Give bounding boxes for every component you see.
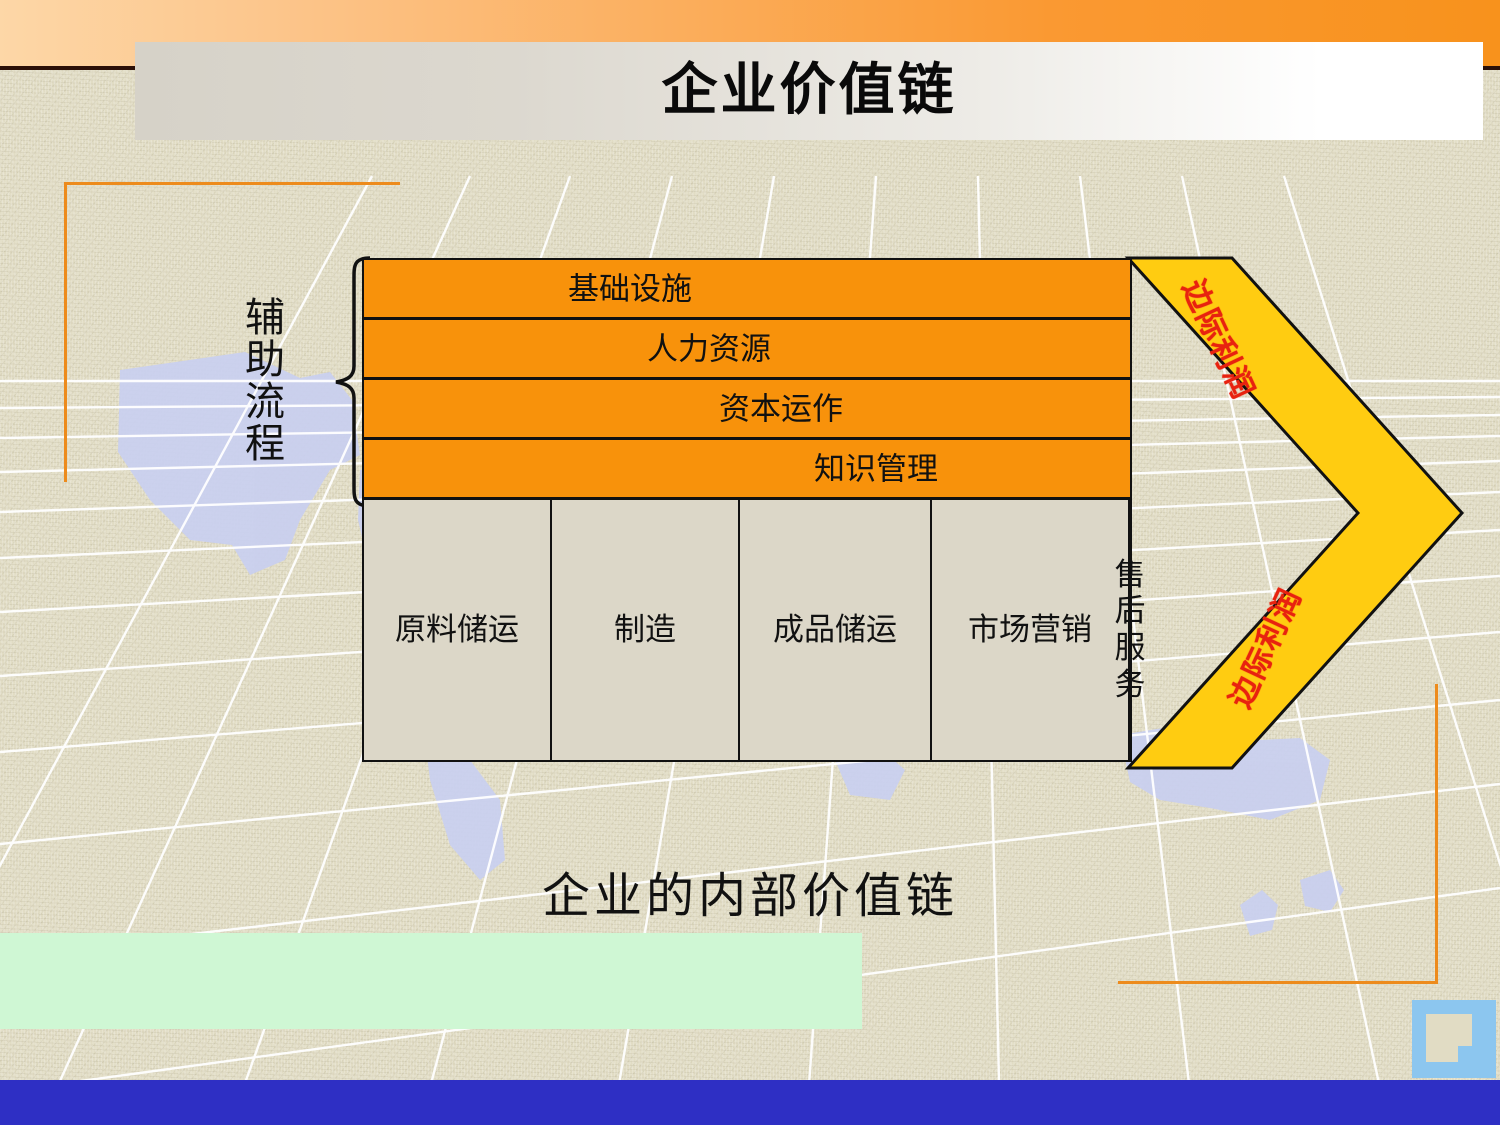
support-row-label: 知识管理 [814, 453, 938, 484]
decor-mint-rectangle [0, 933, 862, 1029]
support-row[interactable]: 基础设施 [362, 258, 1132, 319]
diagram-caption: 企业的内部价值链 [0, 856, 1500, 926]
primary-cell[interactable]: 制造 [552, 500, 740, 760]
title-box: 企业价值链 [135, 42, 1483, 140]
support-row[interactable]: 人力资源 [362, 318, 1132, 379]
support-row-label: 人力资源 [647, 333, 771, 364]
support-row[interactable]: 知识管理 [362, 438, 1132, 499]
primary-cell[interactable]: 原料储运 [364, 500, 552, 760]
decor-blue-square-notch [1458, 1046, 1482, 1064]
decor-bracket-bottom-right-horizontal [1118, 981, 1438, 984]
primary-cell[interactable]: 成品储运 [740, 500, 932, 760]
value-chain-diagram: 基础设施 人力资源 资本运作 知识管理 原料储运 制造 成品储运 市场营销 售后… [362, 258, 1132, 762]
margin-profit-chevron: 边际利润 边际利润 [1100, 250, 1500, 780]
support-process-label: 辅助流程 [225, 296, 285, 464]
page-title: 企业价值链 [135, 63, 1483, 119]
support-row[interactable]: 资本运作 [362, 378, 1132, 439]
primary-cell[interactable]: 市场营销 [932, 500, 1130, 760]
support-row-label: 基础设施 [568, 273, 692, 304]
primary-activities-row: 原料储运 制造 成品储运 市场营销 售后服务 [362, 498, 1132, 762]
footer-blue-bar [0, 1080, 1500, 1125]
decor-bracket-top-left-horizontal [64, 182, 400, 185]
chevron-shape [1100, 250, 1500, 780]
support-row-label: 资本运作 [719, 393, 843, 424]
decor-bracket-top-left-vertical [64, 182, 67, 482]
decor-blue-square-icon [1412, 1000, 1496, 1078]
